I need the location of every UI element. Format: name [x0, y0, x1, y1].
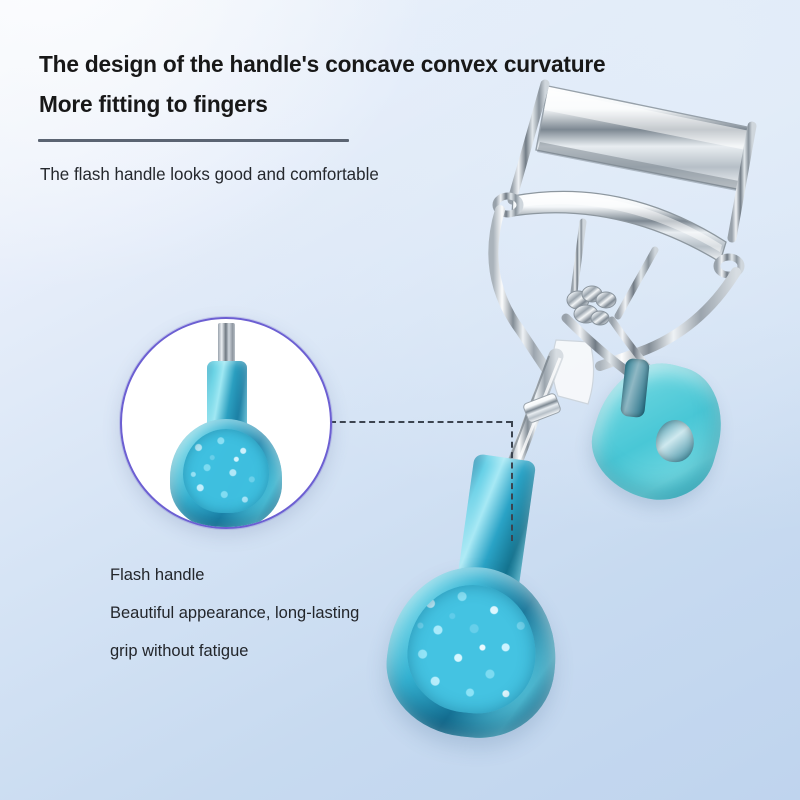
- curler-frame-rail-right: [600, 272, 736, 366]
- curler-strut-right: [618, 250, 655, 316]
- magnifier-callout: [120, 317, 332, 529]
- connector-line-vertical: [511, 421, 513, 541]
- caption-line-2: Beautiful appearance, long-lasting: [110, 594, 430, 632]
- back-handle-finger-hole: [655, 419, 694, 462]
- callout-caption: Flash handle Beautiful appearance, long-…: [110, 556, 430, 670]
- curler-ferrule: [523, 393, 562, 424]
- curler-frame-rail-left: [493, 210, 548, 372]
- connector-line-horizontal: [330, 421, 512, 423]
- product-image-eyelash-curler: [0, 0, 800, 800]
- product-feature-banner: The design of the handle's concave conve…: [0, 0, 800, 800]
- caption-line-1: Flash handle: [110, 556, 430, 594]
- zoom-handle-glitter-fill: [183, 429, 269, 513]
- caption-line-3: grip without fatigue: [110, 632, 430, 670]
- back-handle-slot: [620, 358, 650, 418]
- curler-strut-left: [573, 222, 583, 300]
